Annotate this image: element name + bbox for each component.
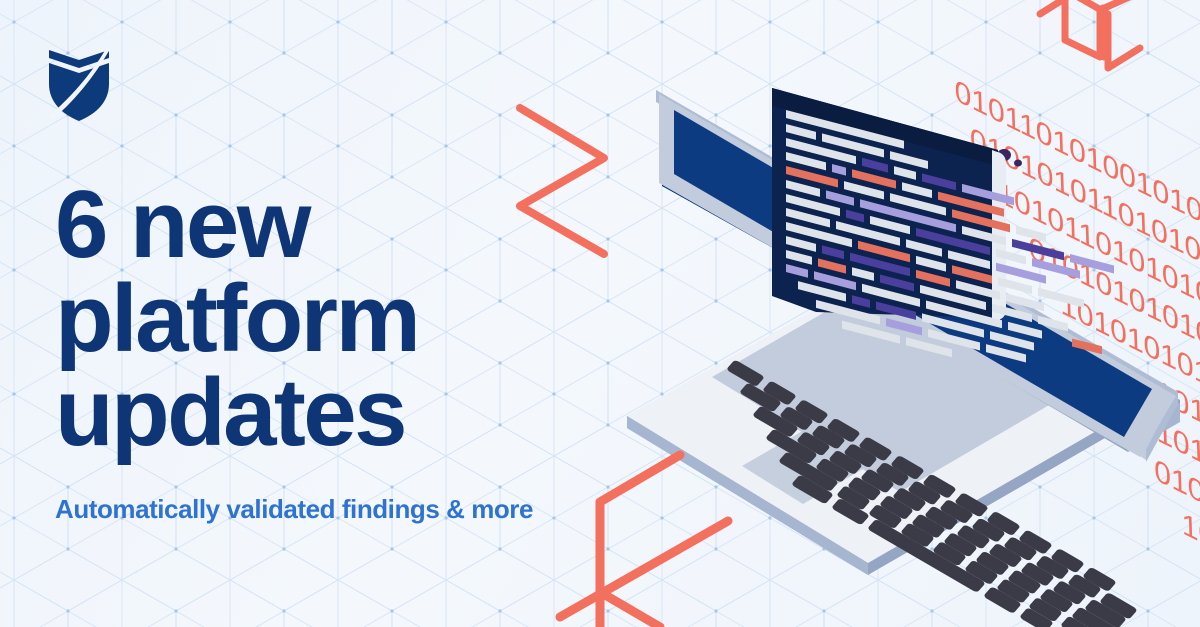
page-title: 6 new platform updates (55, 178, 615, 460)
text-block: 6 new platform updates Automatically val… (55, 178, 615, 525)
page-subtitle: Automatically validated findings & more (55, 494, 615, 525)
shield-logo[interactable] (46, 44, 112, 124)
banner-root: 6 new platform updates Automatically val… (0, 0, 1200, 627)
